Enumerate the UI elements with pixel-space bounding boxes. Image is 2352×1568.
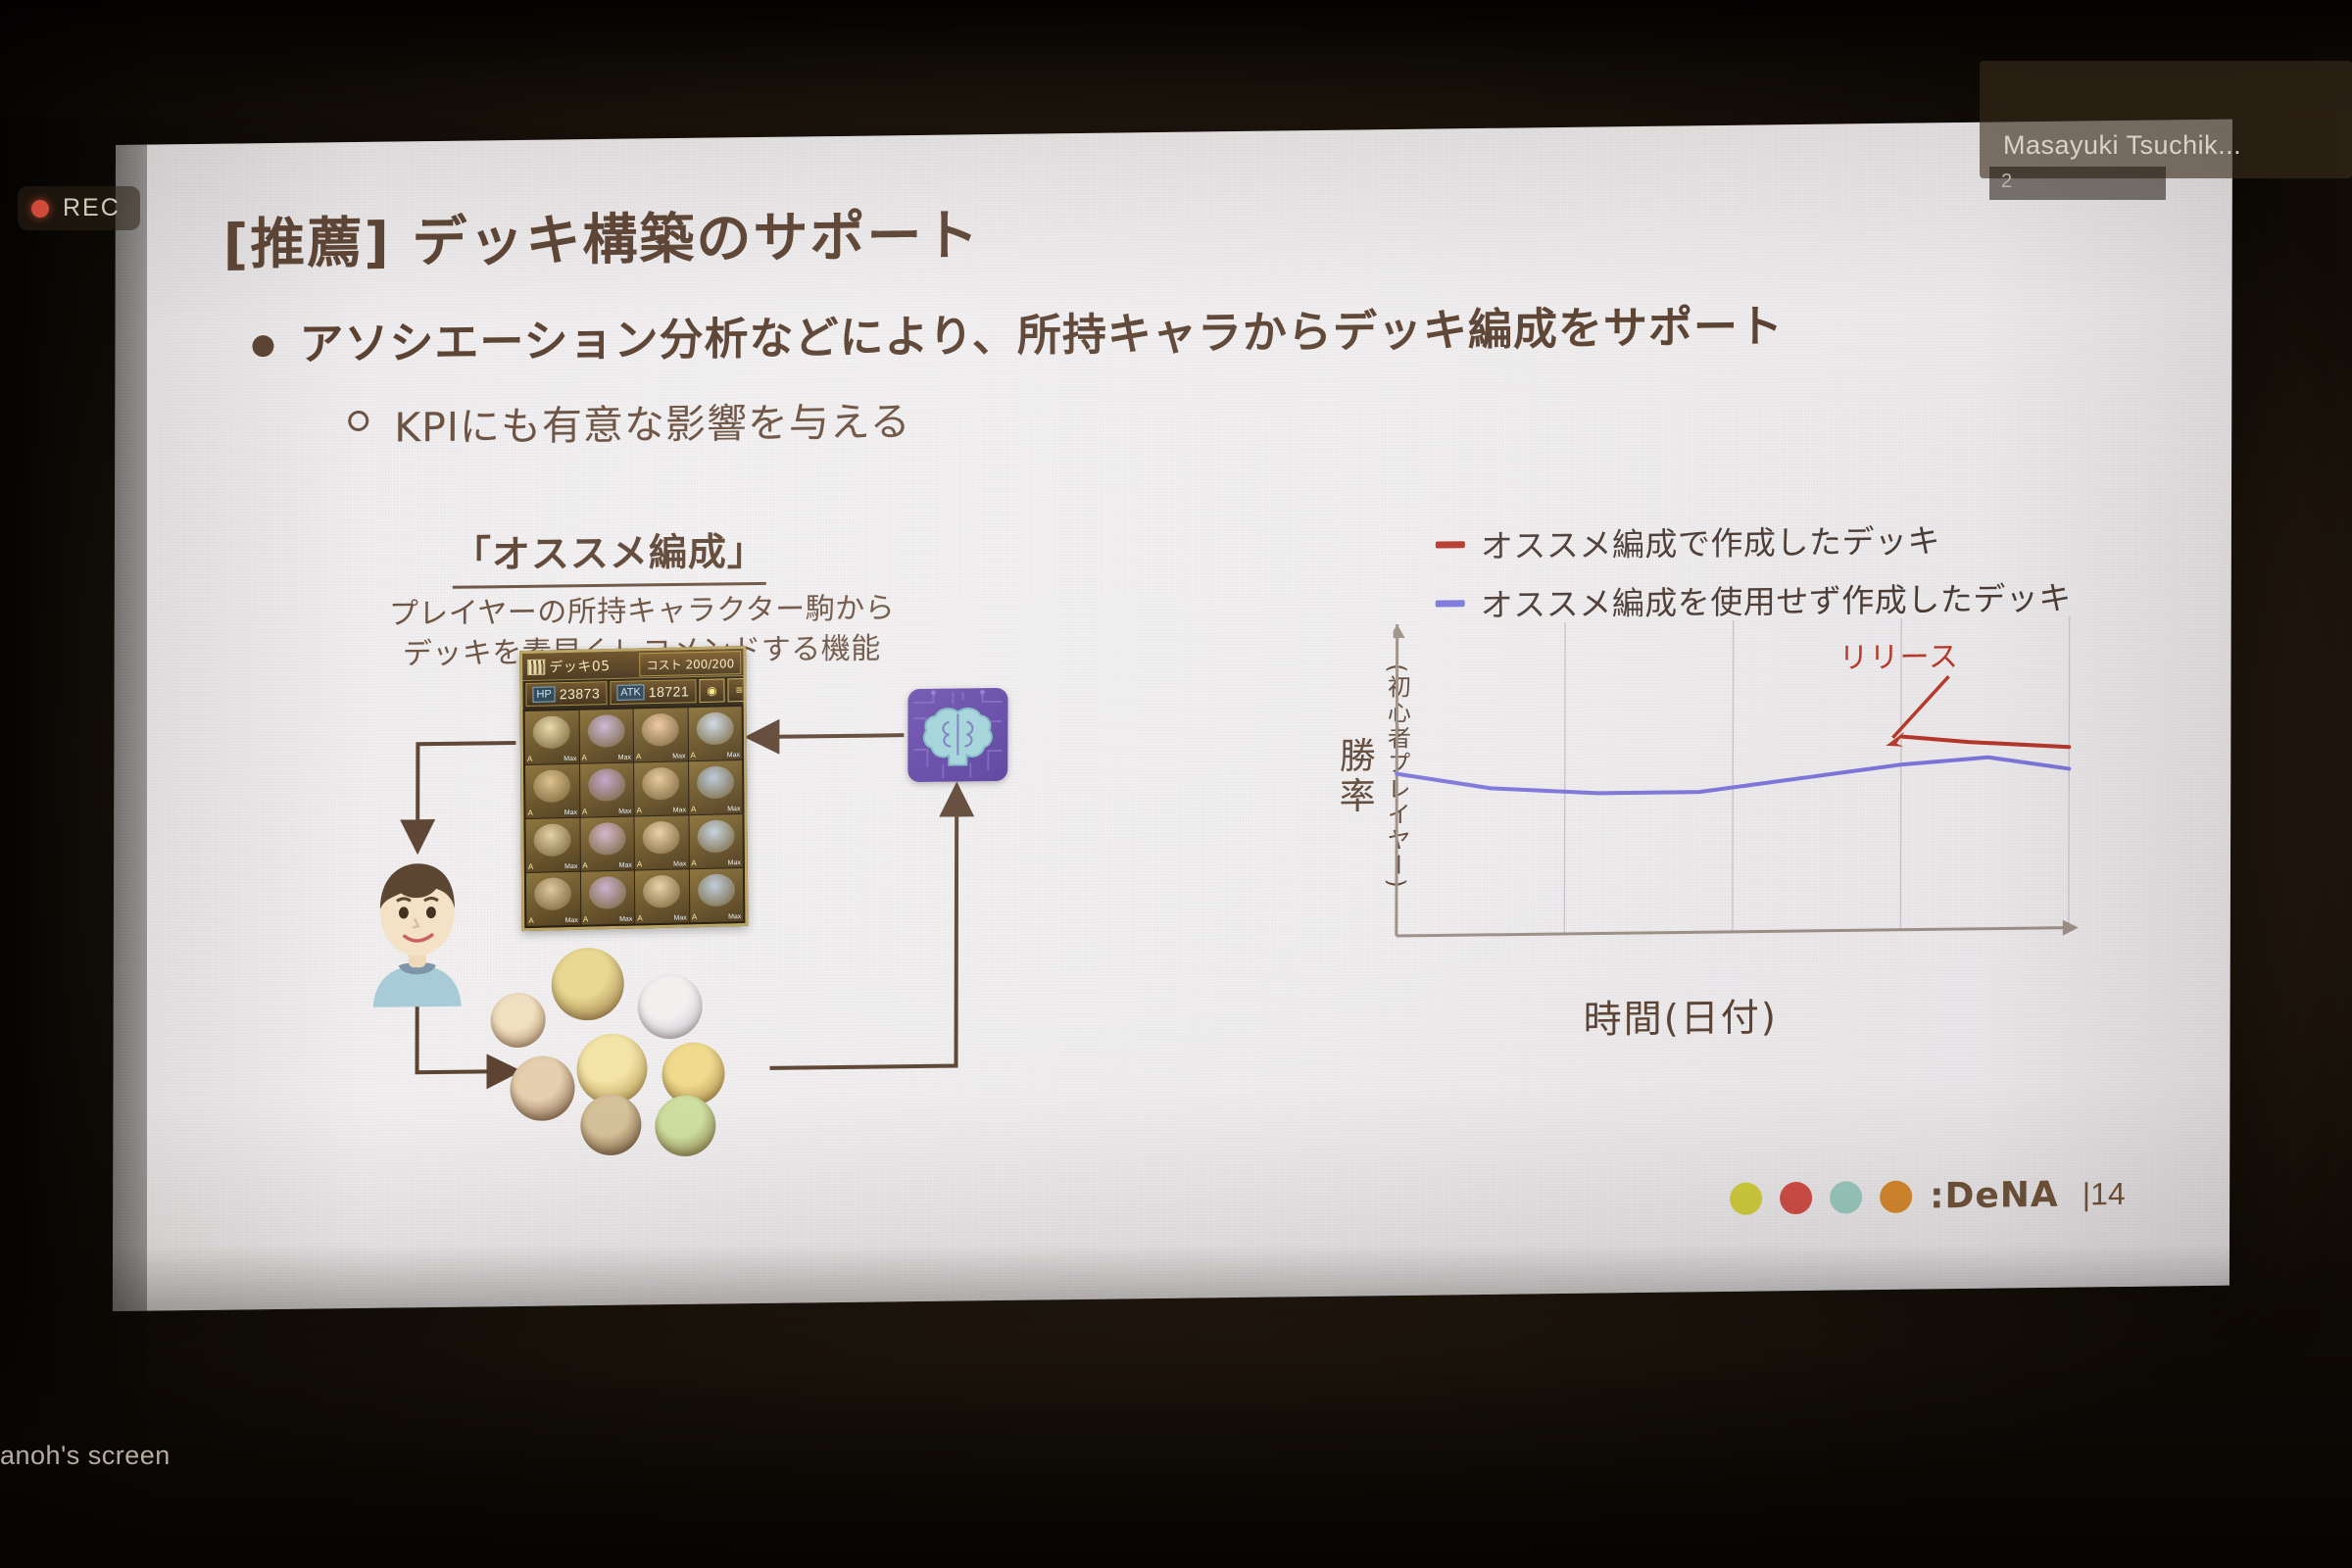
projector-photo: [推薦] デッキ構築のサポート アソシエーション分析などにより、所持キャラからデ… (0, 0, 2352, 1568)
chart-x-axis-label: 時間(日付) (1584, 987, 1779, 1044)
card-max-label: Max (673, 860, 686, 867)
deck-card-cell[interactable]: AMax (634, 815, 688, 869)
card-max-label: Max (619, 862, 632, 869)
deck-card-cell[interactable]: AMax (580, 871, 634, 925)
deck-card-cell[interactable]: AMax (689, 868, 743, 922)
card-portrait (588, 822, 625, 856)
presenter-name: Masayuki Tsuchik... (2003, 130, 2241, 161)
deck-hp-stat: HP 23873 (525, 681, 607, 707)
bullet-disc-icon (252, 335, 273, 357)
recording-indicator: REC (18, 186, 140, 230)
presenter-thumbnail[interactable]: Masayuki Tsuchik... (1980, 61, 2352, 178)
record-dot-icon (31, 200, 49, 218)
brand-dot-3 (1830, 1181, 1862, 1213)
room-shadow-bottom (0, 1245, 2352, 1568)
card-portrait (698, 873, 735, 906)
legend-label: オススメ編成で作成したデッキ (1481, 514, 1940, 567)
deck-card-cell[interactable]: AMax (689, 760, 743, 814)
deck-name: デッキ05 (549, 656, 610, 676)
card-rank: A (636, 752, 641, 760)
deck-card-cell[interactable]: AMax (688, 707, 742, 760)
card-rank: A (582, 808, 587, 816)
card-rank: A (527, 808, 532, 817)
feature-heading: 「オススメ編成」 (453, 521, 766, 589)
character-token (552, 948, 624, 1021)
chart-series-line (1901, 734, 2070, 749)
ai-brain-node (907, 688, 1007, 782)
card-max-label: Max (728, 913, 741, 920)
card-max-label: Max (564, 863, 577, 870)
projection-screen: [推薦] デッキ構築のサポート アソシエーション分析などにより、所持キャラからデ… (113, 120, 2232, 1311)
card-portrait (533, 769, 570, 803)
deck-list-icon (527, 659, 545, 674)
recommendation-flow-diagram: デッキ05 コスト 200/200 HP 23873 ATK 18721 (220, 643, 1065, 1281)
character-token (638, 974, 703, 1040)
page-title: [推薦] デッキ構築のサポート (223, 191, 981, 279)
screen-share-label: anoh's screen (0, 1441, 171, 1471)
chart-gridline (2069, 616, 2070, 928)
thumbnail-page-badge: 2 (1989, 167, 2166, 200)
card-rank: A (528, 916, 533, 925)
card-max-label: Max (563, 756, 576, 762)
brand-dot-1 (1730, 1182, 1762, 1214)
card-rank: A (583, 915, 588, 924)
deck-screenshot: デッキ05 コスト 200/200 HP 23873 ATK 18721 (519, 646, 748, 931)
feature-description-line1: プレイヤーの所持キャラクター駒から (389, 588, 896, 635)
slide-footer: :DeNA |14 (1730, 1174, 2126, 1219)
card-portrait (642, 712, 679, 746)
hp-key: HP (532, 686, 555, 703)
deck-card-cell[interactable]: AMax (526, 872, 580, 926)
card-rank: A (692, 912, 697, 921)
card-portrait (697, 765, 734, 799)
card-portrait (534, 877, 571, 910)
deck-card-cell[interactable]: AMax (635, 869, 689, 923)
deck-stats-bar: HP 23873 ATK 18721 ◉ ≡ (522, 677, 743, 708)
hamburger-menu-icon[interactable]: ≡ (728, 678, 749, 703)
y-axis-primary-label: 勝率 (1327, 736, 1380, 817)
brand-dot-4 (1880, 1181, 1912, 1213)
dena-logo: :DeNA (1930, 1175, 2059, 1217)
character-token (655, 1096, 715, 1157)
page-number: |14 (2082, 1176, 2126, 1213)
legend-swatch (1436, 541, 1465, 548)
card-rank: A (527, 755, 532, 763)
bullet-1-label: アソシエーション分析などにより、所持キャラからデッキ編成をサポート (299, 299, 1784, 372)
character-token (510, 1055, 574, 1121)
card-rank: A (637, 859, 642, 868)
card-max-label: Max (619, 916, 632, 923)
card-portrait (642, 766, 679, 800)
card-rank: A (637, 913, 642, 922)
character-token (580, 1094, 641, 1155)
card-max-label: Max (673, 807, 686, 813)
character-tokens (490, 946, 759, 1135)
card-rank: A (528, 862, 533, 871)
card-max-label: Max (674, 914, 687, 921)
deck-card-cell[interactable]: AMax (634, 708, 688, 761)
player-avatar (354, 851, 481, 1009)
deck-card-cell[interactable]: AMax (525, 710, 579, 764)
deck-card-cell[interactable]: AMax (689, 814, 743, 868)
card-max-label: Max (727, 752, 740, 759)
card-portrait (589, 876, 626, 909)
bullet-item-2: KPIにも有意な影響を与える (348, 388, 911, 454)
bullet-2-label: KPIにも有意な影響を与える (394, 388, 911, 453)
card-portrait (697, 819, 734, 853)
hp-value: 23873 (560, 685, 601, 702)
deck-card-cell[interactable]: AMax (580, 817, 634, 871)
card-portrait (533, 715, 570, 749)
card-portrait (587, 714, 624, 748)
brain-icon (919, 704, 996, 769)
deck-card-cell[interactable]: AMax (525, 818, 579, 872)
deck-cost: コスト 200/200 (640, 651, 742, 676)
deck-card-cell[interactable]: AMax (525, 764, 579, 818)
card-max-label: Max (618, 755, 631, 761)
chart-gridline (1733, 620, 1734, 932)
release-annotation: リリース (1839, 632, 1960, 676)
card-max-label: Max (728, 859, 741, 866)
eye-icon[interactable]: ◉ (699, 678, 725, 703)
deck-title-bar: デッキ05 コスト 200/200 (522, 649, 743, 681)
winrate-chart: オススメ編成で作成したデッキオススメ編成を使用せず作成したデッキ 勝率 (初心者… (1289, 513, 2143, 1268)
thumbnail-page-number: 2 (2001, 171, 2012, 193)
card-rank: A (581, 754, 586, 762)
card-max-label: Max (618, 808, 631, 815)
card-rank: A (636, 806, 641, 814)
card-rank: A (690, 751, 695, 759)
deck-card-cell[interactable]: AMax (579, 710, 633, 763)
atk-key: ATK (616, 684, 645, 701)
card-rank: A (691, 805, 696, 813)
card-rank: A (691, 858, 696, 867)
brand-dot-2 (1780, 1182, 1812, 1214)
card-portrait (696, 711, 733, 745)
card-rank: A (582, 861, 587, 870)
card-portrait (643, 820, 680, 854)
chart-gridline (1564, 622, 1565, 934)
card-portrait (534, 823, 571, 857)
card-portrait (588, 768, 625, 802)
card-max-label: Max (727, 806, 740, 812)
rec-label: REC (63, 194, 121, 222)
character-token (491, 993, 546, 1049)
card-max-label: Max (672, 753, 685, 759)
slide: [推薦] デッキ構築のサポート アソシエーション分析などにより、所持キャラからデ… (113, 120, 2232, 1311)
card-portrait (643, 874, 680, 907)
bullet-circle-icon (348, 411, 368, 431)
deck-card-grid: AMaxAMaxAMaxAMaxAMaxAMaxAMaxAMaxAMaxAMax… (523, 705, 746, 928)
card-max-label: Max (564, 809, 577, 816)
atk-value: 18721 (649, 683, 690, 700)
legend-swatch (1436, 600, 1465, 607)
chart-plot-area (1393, 616, 2080, 949)
legend-item: オススメ編成で作成したデッキ (1436, 514, 2072, 568)
deck-card-cell[interactable]: AMax (580, 763, 634, 817)
deck-card-cell[interactable]: AMax (634, 761, 688, 815)
deck-atk-stat: ATK 18721 (610, 679, 696, 705)
bullet-item-1: アソシエーション分析などにより、所持キャラからデッキ編成をサポート (252, 302, 1555, 373)
card-max-label: Max (565, 917, 578, 924)
